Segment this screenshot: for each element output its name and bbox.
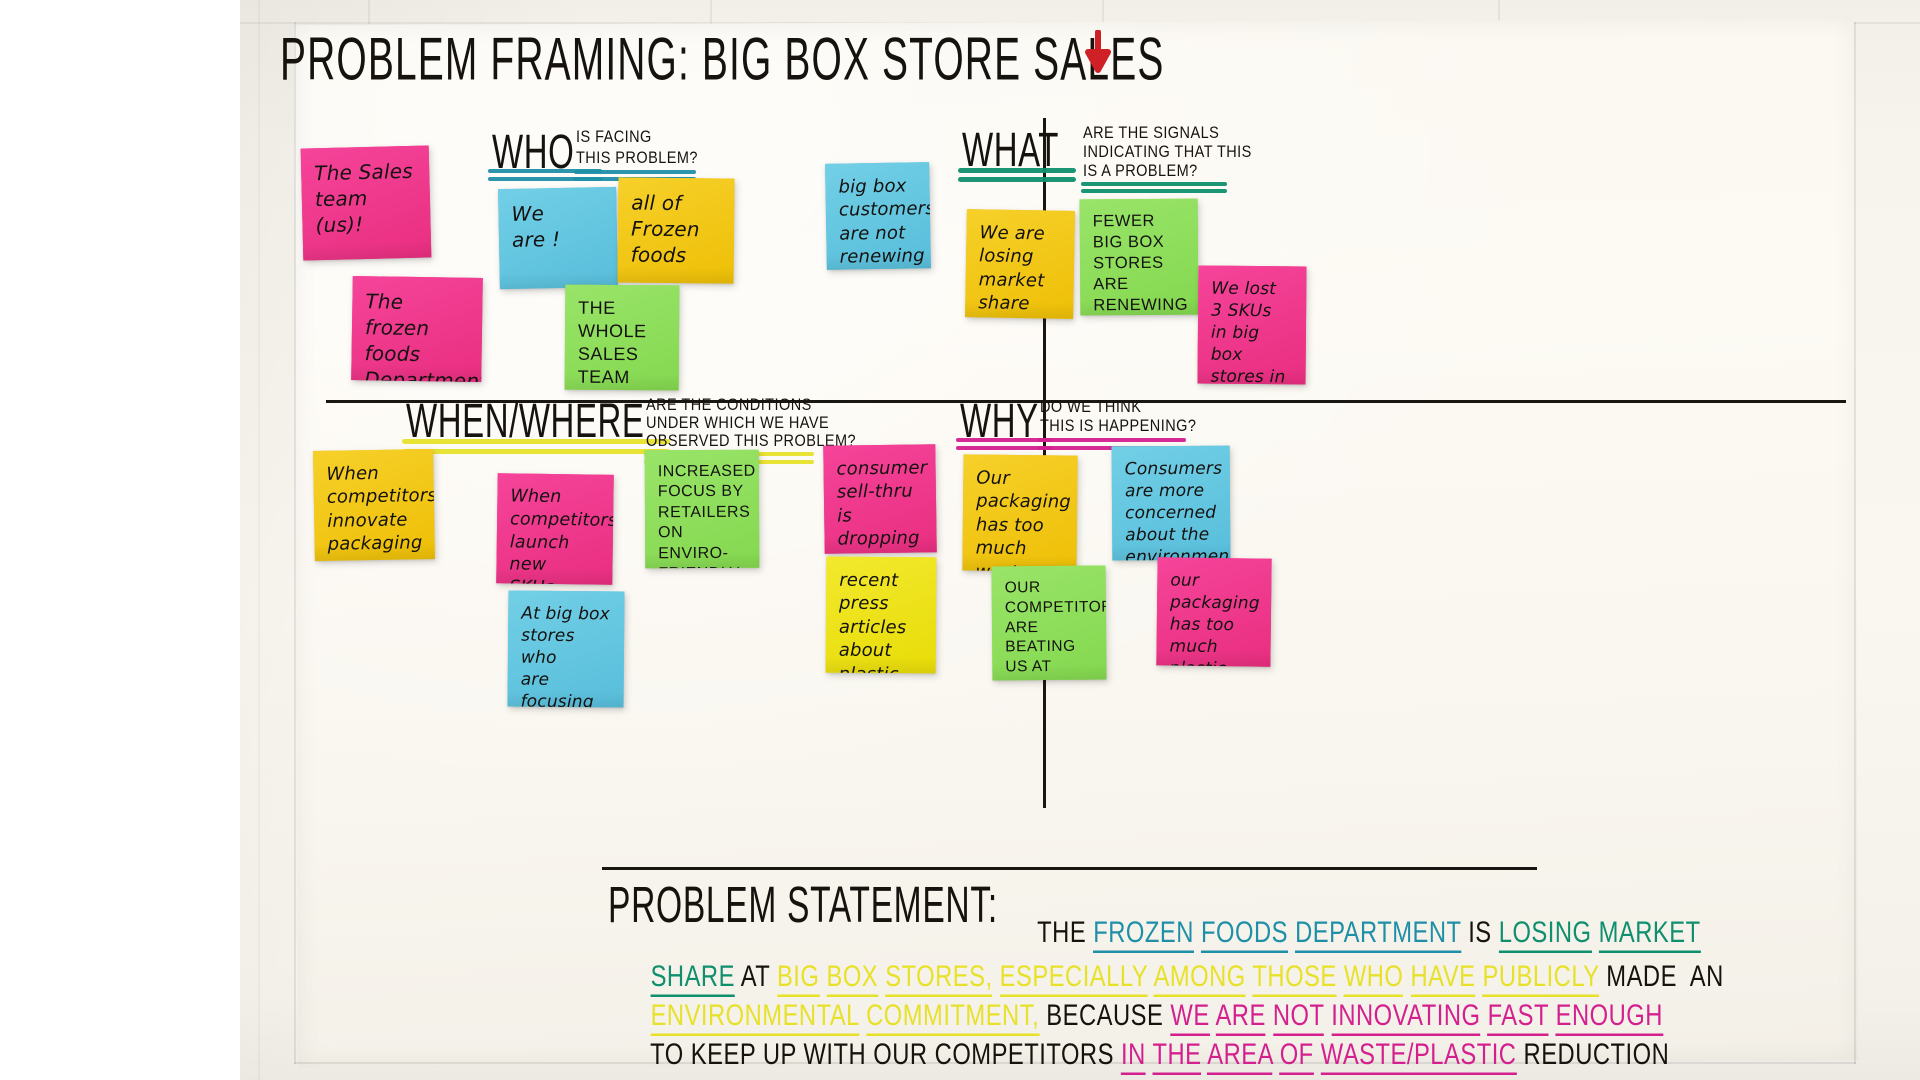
what-subtitle-underline-1	[1081, 182, 1227, 186]
sticky-note[interactable]: We are losing market share	[965, 209, 1075, 319]
sticky-note-text: The frozen foods Department	[364, 288, 472, 382]
when-where-underline-1	[402, 439, 670, 444]
ps-underlined: WASTE/PLASTIC	[1321, 1038, 1517, 1076]
sticky-note-text: When competitors innovate packaging	[326, 461, 424, 556]
sticky-note[interactable]: When competitors launch new SKUs	[496, 473, 614, 585]
ps-underlined: THE	[1152, 1038, 1201, 1076]
sticky-note-text: recent press articles about plastic	[839, 569, 926, 674]
sticky-note[interactable]: We are !	[498, 187, 618, 289]
ps-underlined: IN	[1121, 1038, 1146, 1076]
whiteboard-photo: PROBLEM FRAMING: BIG BOX STORE SALES WHO…	[240, 0, 1920, 1080]
sticky-note-text: We are losing market share	[978, 221, 1064, 316]
sticky-note[interactable]: all of Frozen foods	[617, 177, 734, 283]
sticky-note-text: We lost 3 SKUs in big box stores in 3 mo…	[1210, 278, 1295, 385]
wall-seam	[258, 0, 260, 1080]
sticky-note-text: FEWER BIG BOX STORES ARE RENEWING FULL O…	[1093, 211, 1188, 316]
sticky-note-text: THE WHOLE SALES TEAM	[578, 297, 669, 390]
sticky-note[interactable]: our packaging has too much plastic	[1156, 557, 1271, 666]
sticky-note-text: INCREASED FOCUS BY RETAILERS ON ENVIRO- …	[658, 462, 749, 569]
sticky-note-text: The Sales team (us)!	[314, 158, 420, 239]
who-subtitle-underline-1	[574, 170, 696, 174]
sticky-note-text: Consumers are more concerned about the e…	[1125, 458, 1220, 561]
problem-statement-line-4: TO KEEP UP WITH OUR COMPETITORS IN THE A…	[608, 1010, 1669, 1080]
quadrant-subtitle-what-line3: IS A PROBLEM?	[1083, 162, 1198, 183]
red-down-arrow-icon	[1084, 30, 1114, 74]
sticky-note[interactable]: Consumers are more concerned about the e…	[1112, 446, 1231, 561]
wall-seam	[1102, 0, 1104, 24]
when-where-underline-2	[402, 449, 670, 454]
problem-statement-divider	[602, 867, 1537, 870]
wall-seam	[368, 0, 370, 24]
page-title: PROBLEM FRAMING: BIG BOX STORE SALES	[280, 30, 1164, 91]
sticky-note-text: Our packaging has too much waste	[975, 467, 1066, 572]
sticky-note-text: consumer sell-thru is dropping	[836, 456, 925, 551]
sticky-note[interactable]: We lost 3 SKUs in big box stores in 3 mo…	[1197, 266, 1306, 385]
sticky-note[interactable]: OUR COMPETITORS ARE BEATING US AT REDUCI…	[992, 566, 1107, 681]
sticky-note[interactable]: recent press articles about plastic	[826, 557, 937, 674]
sticky-note[interactable]: big box customers are not renewing	[825, 162, 931, 270]
problem-statement-label: PROBLEM STATEMENT:	[608, 880, 998, 932]
sticky-note[interactable]: The Sales team (us)!	[301, 145, 432, 260]
quadrant-subtitle-why-line2: THIS IS HAPPENING?	[1040, 417, 1196, 438]
sticky-note-text: our packaging has too much plastic	[1169, 569, 1260, 666]
why-subtitle-underline-1	[1038, 438, 1186, 442]
quadrant-subtitle-why-line1: DO WE THINK	[1040, 398, 1141, 419]
sticky-note[interactable]: THE WHOLE SALES TEAM	[565, 285, 680, 391]
what-subtitle-underline-2	[1081, 189, 1227, 193]
sticky-note[interactable]: FEWER BIG BOX STORES ARE RENEWING FULL O…	[1080, 199, 1199, 316]
ps-underlined: OF	[1280, 1038, 1314, 1076]
quadrant-subtitle-who-line2: THIS PROBLEM?	[576, 149, 698, 170]
ps-text: TO KEEP UP WITH OUR COMPETITORS	[650, 1038, 1121, 1072]
paper-edge-left	[294, 22, 296, 1064]
screenshot-root: PROBLEM FRAMING: BIG BOX STORE SALES WHO…	[0, 0, 1920, 1080]
quadrant-subtitle-who-line1: IS FACING	[576, 128, 652, 149]
ps-text	[1314, 1038, 1321, 1072]
sticky-note-text: At big box stores who are focusing on wa…	[520, 603, 613, 708]
ps-text: REDUCTION	[1516, 1038, 1669, 1072]
paper-edge-right	[1854, 22, 1856, 1064]
sticky-note-text: all of Frozen foods	[631, 190, 724, 269]
sticky-note[interactable]: consumer sell-thru is dropping	[823, 444, 936, 554]
sticky-note-text: OUR COMPETITORS ARE BEATING US AT REDUCI…	[1005, 578, 1096, 681]
what-underline-2	[958, 177, 1076, 182]
quadrant-subtitle-what-line2: INDICATING THAT THIS	[1083, 143, 1252, 164]
sticky-note[interactable]: When competitors innovate packaging	[313, 449, 435, 561]
sticky-note[interactable]: The frozen foods Department	[351, 276, 483, 382]
sticky-note[interactable]: At big box stores who are focusing on wa…	[507, 590, 624, 707]
what-underline-1	[958, 168, 1076, 173]
sticky-note-text: big box customers are not renewing	[838, 174, 920, 269]
sticky-note-text: We are !	[511, 199, 606, 253]
sticky-note-text: When competitors launch new SKUs	[509, 485, 603, 584]
ps-underlined: AREA	[1207, 1038, 1272, 1076]
ps-text	[1146, 1038, 1153, 1072]
sticky-note[interactable]: INCREASED FOCUS BY RETAILERS ON ENVIRO- …	[645, 450, 760, 569]
wall-seam	[710, 0, 712, 24]
sticky-note[interactable]: Our packaging has too much waste	[962, 454, 1077, 571]
quadrant-subtitle-what-line1: ARE THE SIGNALS	[1083, 124, 1219, 145]
